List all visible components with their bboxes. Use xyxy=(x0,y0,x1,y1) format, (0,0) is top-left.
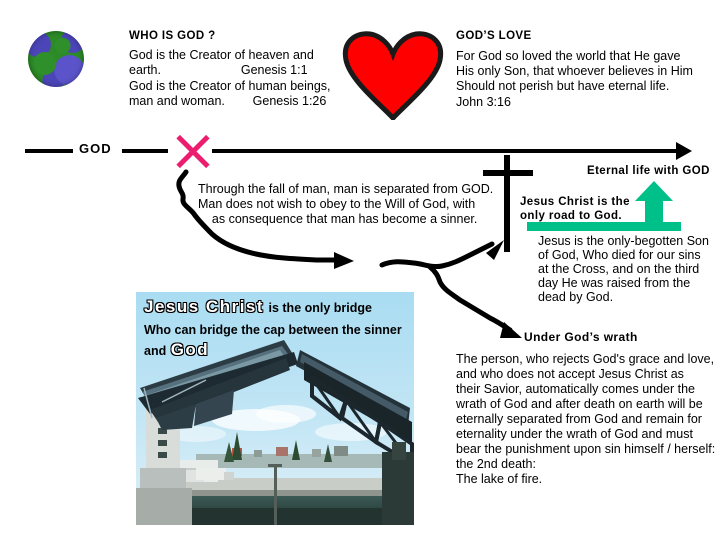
gods-wrath-line-7: bear the punishment upon sin himself / h… xyxy=(456,442,715,458)
gods-wrath-line-9: The lake of fire. xyxy=(456,472,542,488)
jesus-road-line-2: of God, Who died for our sins xyxy=(538,248,701,263)
jesus-road-line-5: dead by God. xyxy=(538,290,613,305)
bridge-caption-line-3: and God xyxy=(144,340,209,360)
gods-wrath-line-6: eternality under the wrath of God and mu… xyxy=(456,427,693,443)
fall-of-man-line-1: Through the fall of man, man is separate… xyxy=(198,182,493,198)
gods-wrath-heading: Under God’s wrath xyxy=(524,330,638,344)
bridge-caption-line3-prefix: and xyxy=(144,344,166,358)
bridge-caption-line-1: Jesus Christ is the only bridge xyxy=(144,297,372,317)
jesus-road-heading-line-1: Jesus Christ is the xyxy=(520,196,630,208)
gods-wrath-line-1: The person, who rejects God's grace and … xyxy=(456,352,714,368)
jesus-road-heading-line-2: only road to God. xyxy=(520,210,622,222)
bridge-caption-line-2: Who can bridge the cap between the sinne… xyxy=(144,323,402,337)
drawbridge-photo: Jesus Christ is the only bridge Who can … xyxy=(136,292,414,525)
fall-of-man-line-3: as consequence that man has become a sin… xyxy=(198,212,477,228)
gods-wrath-line-2: and who does not accept Jesus Christ as xyxy=(456,367,684,383)
bridge-caption-line3-strong: God xyxy=(171,340,210,359)
jesus-road-line-3: at the Cross, and on the third xyxy=(538,262,699,277)
diagram-canvas: WHO IS GOD ? God is the Creator of heave… xyxy=(0,0,720,540)
jesus-road-line-4: day He was raised from the xyxy=(538,276,690,291)
gods-wrath-line-3: their Savior, automatically comes under … xyxy=(456,382,695,398)
bridge-caption-strong: Jesus Christ xyxy=(144,297,264,316)
gods-wrath-line-5: eternally separated from God and remain … xyxy=(456,412,702,428)
gods-wrath-line-8: the 2nd death: xyxy=(456,457,536,473)
fall-of-man-line-2: Man does not wish to obey to the Will of… xyxy=(198,197,475,213)
gods-wrath-line-4: wrath of God and after death on earth wi… xyxy=(456,397,703,413)
bridge-caption-rest: is the only bridge xyxy=(269,301,373,315)
jesus-road-line-1: Jesus is the only-begotten Son xyxy=(538,234,709,249)
